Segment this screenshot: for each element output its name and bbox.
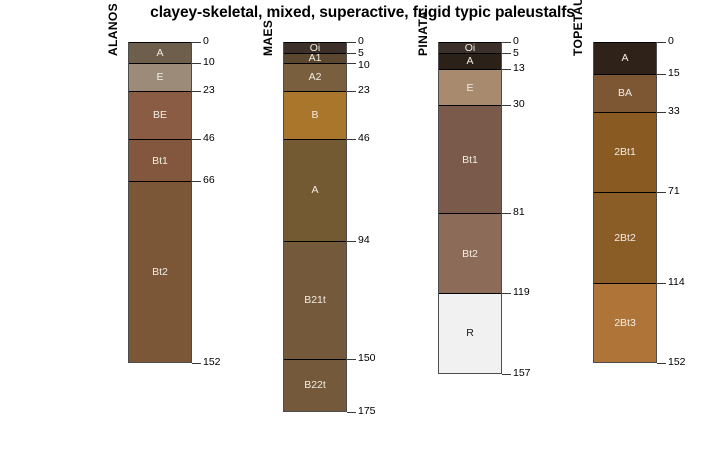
horizon-label: Bt2 [152,267,168,278]
depth-tick [347,359,356,360]
depth-tick-label: 152 [668,356,686,368]
horizon-label: E [156,72,163,83]
depth-tick [502,374,511,375]
profile-name-label: ALANOS [106,3,120,56]
horizon-label: Oi [310,43,321,53]
profile-column: OiA1A2BAB21tB22t [283,42,347,412]
profile-name-label: MAES [261,20,275,56]
horizon-label: Oi [465,43,476,53]
depth-tick-label: 175 [358,405,376,417]
depth-tick-label: 114 [668,276,685,288]
depth-tick [192,363,201,364]
depth-tick [657,112,666,113]
profile-column: ABA2Bt12Bt22Bt3 [593,42,657,363]
depth-tick-label: 23 [358,84,370,96]
horizon-segment: Bt1 [439,105,501,213]
horizon-segment: Bt1 [129,139,191,181]
horizon-label: B21t [304,295,326,306]
profile-name-label: TOPETAUL [571,0,585,56]
depth-tick [657,363,666,364]
horizon-label: BE [153,110,167,121]
horizon-label: B [311,110,318,121]
depth-tick-label: 0 [358,35,364,47]
horizon-segment: R [439,293,501,373]
horizon-segment: A [439,53,501,70]
profile-column: AEBEBt1Bt2 [128,42,192,363]
horizon-label: Bt1 [462,155,478,166]
horizon-segment: A1 [284,53,346,64]
depth-tick-label: 13 [513,62,525,74]
depth-tick-label: 33 [668,105,680,117]
depth-tick [502,213,511,214]
depth-tick-label: 10 [358,59,370,71]
horizon-label: A [466,56,473,67]
horizon-segment: Oi [284,42,346,53]
depth-tick-label: 0 [203,35,209,47]
horizon-label: A [621,53,628,64]
profile-name-label: PINATA [416,11,430,56]
depth-tick-label: 119 [513,286,530,298]
depth-tick-label: 66 [203,174,215,186]
horizon-segment: A2 [284,63,346,90]
depth-tick [347,139,356,140]
depth-tick-label: 81 [513,206,525,218]
horizon-segment: B21t [284,241,346,359]
depth-tick [347,63,356,64]
depth-tick-label: 94 [358,234,370,246]
horizon-label: 2Bt3 [614,318,636,329]
horizon-segment: 2Bt1 [594,112,656,192]
horizon-label: Bt2 [462,249,478,260]
horizon-segment: B22t [284,359,346,412]
depth-tick [347,241,356,242]
horizon-segment: E [439,69,501,105]
depth-tick [657,42,666,43]
depth-tick-label: 23 [203,84,215,96]
horizon-segment: Bt2 [439,213,501,293]
horizon-label: 2Bt2 [614,233,636,244]
depth-tick-label: 152 [203,356,221,368]
horizon-label: R [466,328,474,339]
depth-tick-label: 46 [358,132,370,144]
horizon-label: A1 [309,53,322,63]
depth-tick [502,42,511,43]
depth-tick-label: 10 [203,56,215,68]
horizon-segment: Bt2 [129,181,191,363]
depth-tick [347,53,356,54]
horizon-label: 2Bt1 [614,147,636,158]
horizon-segment: E [129,63,191,90]
horizon-segment: BE [129,91,191,140]
horizon-label: A2 [309,72,322,83]
depth-tick [192,139,201,140]
depth-tick-label: 0 [513,35,519,47]
depth-tick [502,293,511,294]
horizon-segment: 2Bt3 [594,283,656,363]
horizon-segment: B [284,91,346,140]
soil-profile-figure: clayey-skeletal, mixed, superactive, fri… [0,0,725,450]
depth-tick [657,74,666,75]
horizon-label: B22t [304,380,326,391]
depth-tick [347,42,356,43]
depth-tick-label: 0 [668,35,674,47]
depth-tick-label: 157 [513,367,531,379]
depth-tick [192,42,201,43]
horizon-segment: A [284,139,346,240]
depth-tick-label: 46 [203,132,215,144]
depth-tick-label: 71 [668,185,680,197]
depth-tick [192,91,201,92]
depth-tick [192,63,201,64]
depth-tick-label: 150 [358,352,376,364]
horizon-label: E [466,83,473,94]
depth-tick [347,91,356,92]
horizon-label: A [311,185,318,196]
horizon-segment: A [129,42,191,63]
depth-tick [502,53,511,54]
profile-column: OiAEBt1Bt2R [438,42,502,374]
depth-tick-label: 15 [668,67,680,79]
depth-tick [347,412,356,413]
depth-tick [502,69,511,70]
horizon-segment: 2Bt2 [594,192,656,283]
depth-tick [657,283,666,284]
horizon-label: A [156,48,163,59]
depth-tick [192,181,201,182]
horizon-label: Bt1 [152,156,168,167]
depth-tick-label: 5 [513,47,519,59]
horizon-segment: BA [594,74,656,112]
depth-tick-label: 5 [358,47,364,59]
horizon-segment: Oi [439,42,501,53]
depth-tick-label: 30 [513,98,525,110]
horizon-label: BA [618,88,632,99]
depth-tick [657,192,666,193]
depth-tick [502,105,511,106]
horizon-segment: A [594,42,656,74]
